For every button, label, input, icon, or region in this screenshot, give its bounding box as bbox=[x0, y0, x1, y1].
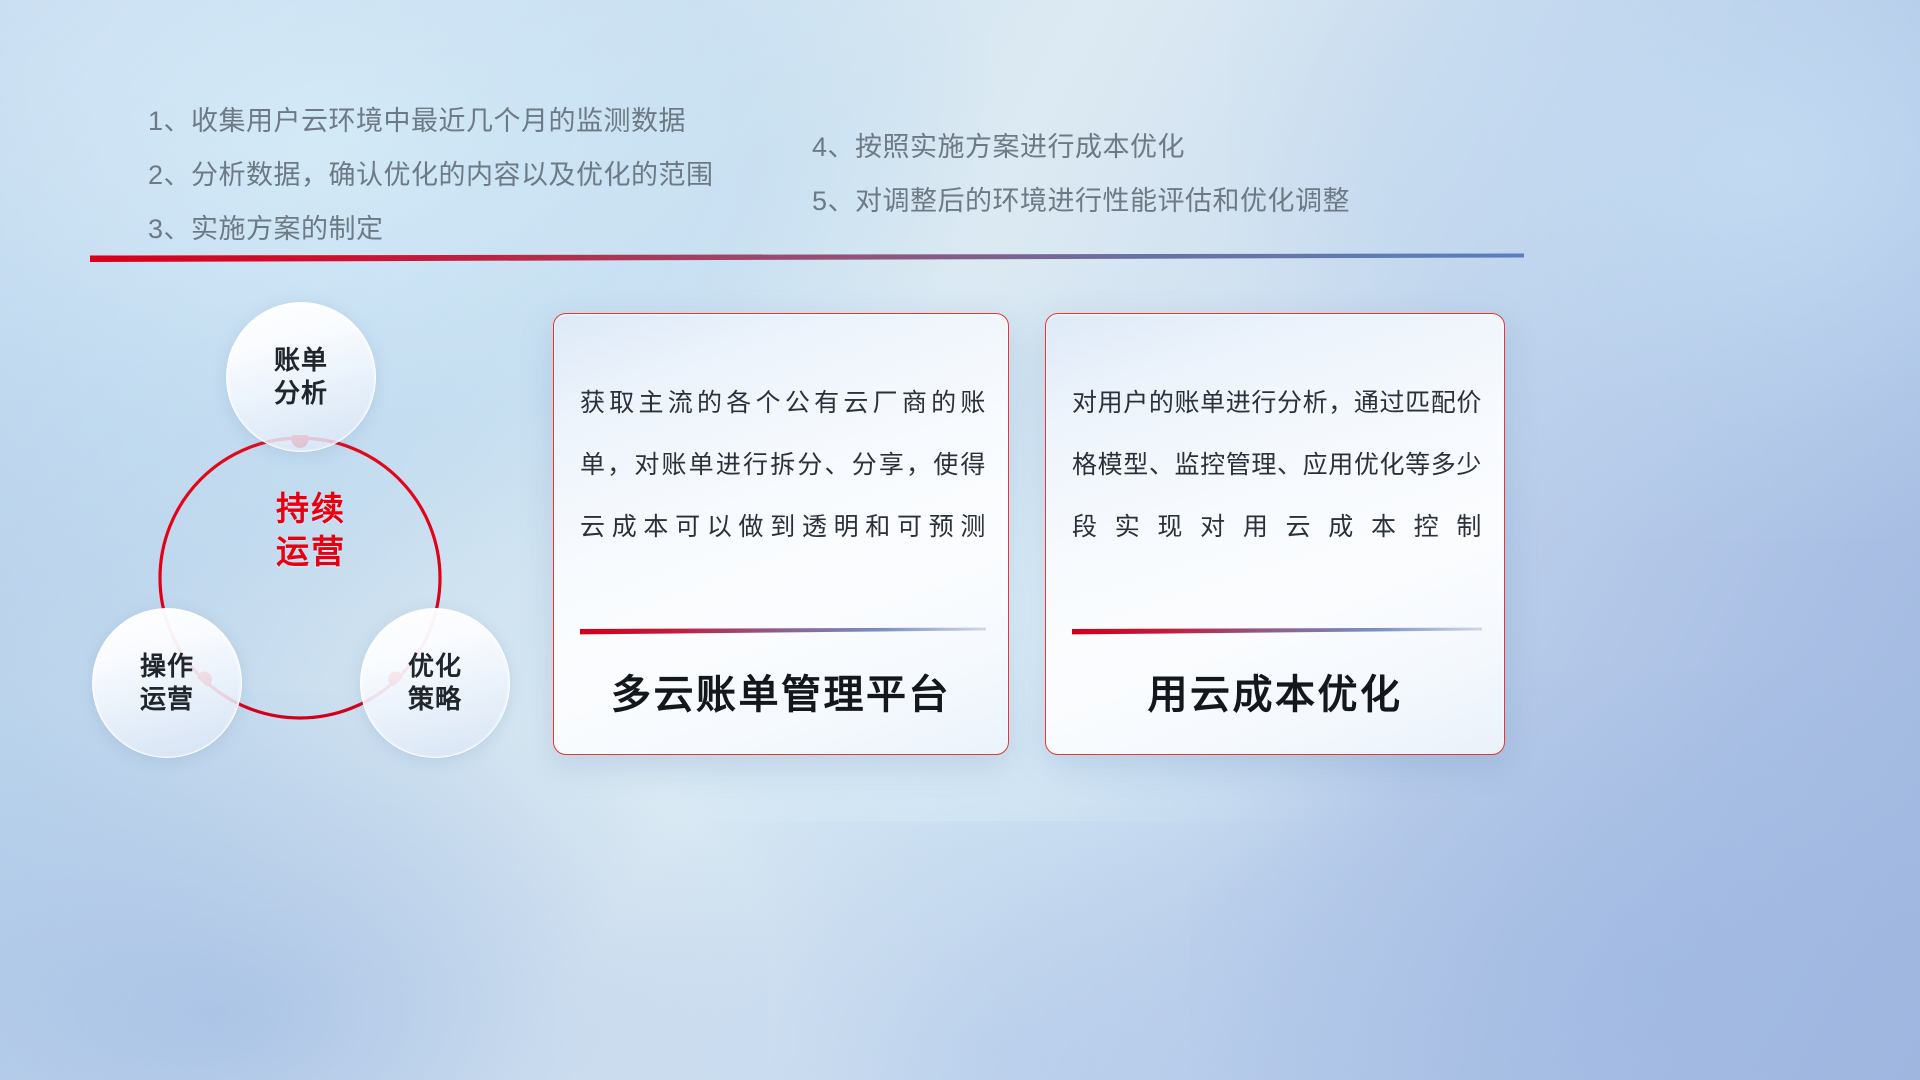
cards-section: 获取主流的各个公有云厂商的账单，对账单进行拆分、分享，使得云成本可以做到透明和可… bbox=[0, 0, 1920, 1080]
card-accent-line bbox=[1072, 627, 1482, 636]
card-accent-line bbox=[580, 627, 986, 636]
card-description: 对用户的账单进行分析，通过匹配价格模型、监控管理、应用优化等多少段实现对用云成本… bbox=[1072, 372, 1482, 558]
card-title: 用云成本优化 bbox=[1046, 662, 1504, 720]
card-body: 获取主流的各个公有云厂商的账单，对账单进行拆分、分享，使得云成本可以做到透明和可… bbox=[580, 372, 986, 558]
card-description: 获取主流的各个公有云厂商的账单，对账单进行拆分、分享，使得云成本可以做到透明和可… bbox=[580, 372, 986, 558]
card-cloud-cost-optimization[interactable]: 对用户的账单进行分析，通过匹配价格模型、监控管理、应用优化等多少段实现对用云成本… bbox=[1045, 313, 1505, 755]
card-body: 对用户的账单进行分析，通过匹配价格模型、监控管理、应用优化等多少段实现对用云成本… bbox=[1072, 372, 1482, 558]
card-title: 多云账单管理平台 bbox=[554, 662, 1008, 720]
card-multi-cloud-billing-platform[interactable]: 获取主流的各个公有云厂商的账单，对账单进行拆分、分享，使得云成本可以做到透明和可… bbox=[553, 313, 1009, 755]
